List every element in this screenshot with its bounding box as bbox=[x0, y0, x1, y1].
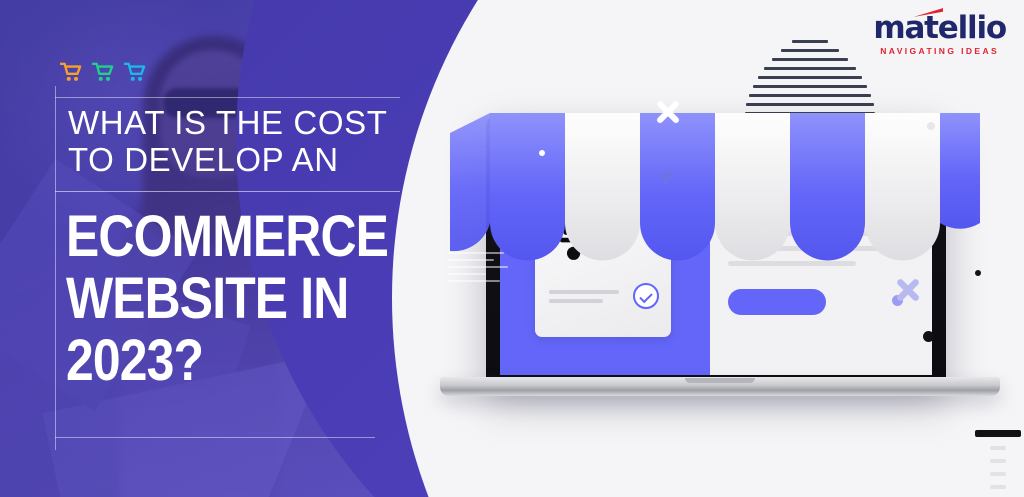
accent-lines bbox=[448, 252, 508, 287]
dot-black-large bbox=[923, 331, 934, 342]
rule-horizontal-mid bbox=[55, 191, 400, 192]
blog-banner: WHAT IS THE COST TO DEVELOP AN ECOMMERCE… bbox=[0, 0, 1024, 497]
laptop-notch bbox=[685, 378, 755, 383]
dot-grey-small bbox=[927, 122, 935, 130]
rule-vertical bbox=[55, 86, 56, 450]
rule-horizontal-top bbox=[55, 97, 400, 98]
dash-stack-icon bbox=[970, 430, 1024, 497]
card-text-line bbox=[549, 290, 619, 294]
cta-button-placeholder[interactable] bbox=[728, 289, 826, 315]
logo-name: matellio bbox=[873, 10, 1006, 46]
cart-icon-green bbox=[92, 62, 114, 82]
kicker-text: WHAT IS THE COST TO DEVELOP AN bbox=[68, 104, 468, 178]
triangle-marker-icon bbox=[658, 172, 674, 185]
card-text-line bbox=[549, 299, 603, 303]
storefront-illustration: 2023 bbox=[430, 0, 1024, 497]
shop-awning bbox=[450, 105, 980, 290]
rule-horizontal-bottom bbox=[55, 437, 375, 438]
cart-icon-row bbox=[60, 62, 146, 82]
headline-text: ECOMMERCE WEBSITE IN 2023? bbox=[66, 206, 427, 392]
brand-logo[interactable]: matellio NAVIGATING IDEAS bbox=[873, 13, 1006, 56]
awning-dot bbox=[539, 150, 545, 156]
logo-tagline: NAVIGATING IDEAS bbox=[873, 46, 1006, 56]
logo-wordmark: matellio bbox=[873, 13, 1006, 44]
cart-icon-cyan bbox=[124, 62, 146, 82]
dot-black-small bbox=[975, 270, 981, 276]
x-mark-top-icon bbox=[656, 100, 680, 124]
cart-icon-orange bbox=[60, 62, 82, 82]
x-mark-side-icon bbox=[895, 277, 921, 303]
